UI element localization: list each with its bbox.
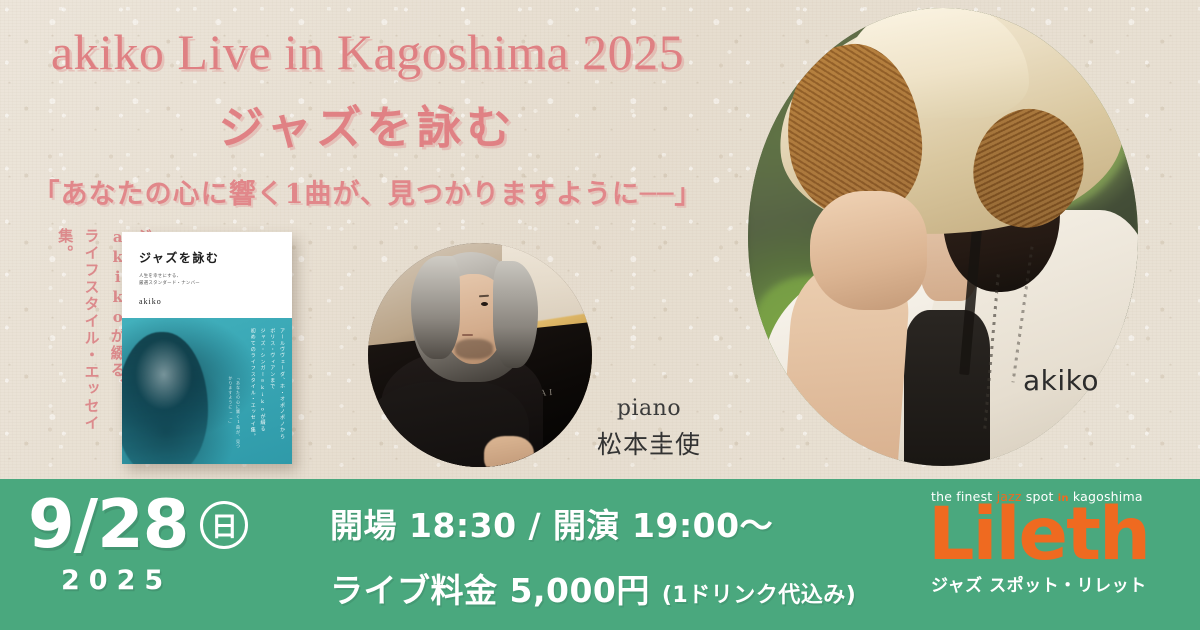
headline-block: akiko Live in Kagoshima 2025 ジャズを詠む 「あなた… bbox=[0, 26, 735, 211]
piano-role-label: piano bbox=[594, 396, 704, 421]
event-year: 2025 bbox=[61, 565, 308, 596]
artist-name-label: akiko bbox=[1023, 364, 1099, 397]
venue-name-japanese: ジャズ スポット・リレット bbox=[931, 571, 1108, 596]
event-day-of-week-badge: 日 bbox=[200, 501, 248, 549]
poster-title-sub: ジャズを詠む bbox=[0, 91, 735, 156]
venue-wordmark: Lileth bbox=[928, 500, 1108, 569]
pianist-illustration: K. KAWAI bbox=[368, 243, 592, 467]
event-price: ライブ料金 5,000円 bbox=[330, 571, 650, 610]
book-subtitle-line2: 厳選スタンダード・ナンバー bbox=[139, 280, 292, 287]
book-cover-photo: アールヴヴェーダ、ホ・オポノポノから ボリス・ヴィアンまで ジャズ・シンガーak… bbox=[122, 318, 292, 464]
poster-title-main: akiko Live in Kagoshima 2025 bbox=[0, 26, 735, 79]
pianist-name: 松本圭使 bbox=[594, 425, 704, 461]
event-month-day: 9/28 bbox=[28, 491, 188, 558]
book-author: akiko bbox=[139, 297, 292, 306]
venue-logo[interactable]: the finest jazz spot in kagoshima Lileth… bbox=[928, 489, 1108, 596]
event-price-note: (1ドリンク代込み) bbox=[662, 583, 856, 608]
footer-banner: 9/28 日 2025 開場 18:30 / 開演 19:00〜 ライブ料金 5… bbox=[0, 479, 1200, 630]
event-times: 開場 18:30 / 開演 19:00〜 bbox=[330, 499, 856, 547]
book-cover-vertical-text: アールヴヴェーダ、ホ・オポノポノから ボリス・ヴィアンまで ジャズ・シンガーak… bbox=[247, 328, 286, 456]
event-price-row: ライブ料金 5,000円 (1ドリンク代込み) bbox=[330, 564, 856, 612]
piano-credit: piano 松本圭使 bbox=[594, 396, 704, 461]
event-info-block: 開場 18:30 / 開演 19:00〜 ライブ料金 5,000円 (1ドリンク… bbox=[330, 499, 856, 612]
book-cover-quote: 「あなたの心に響く1曲が、見つかりますように──」 bbox=[227, 376, 242, 452]
book-cover-top: ジャズを詠む 人生を幸せにする、 厳選スタンダード・ナンバー akiko bbox=[122, 232, 292, 318]
pianist-photo: K. KAWAI bbox=[368, 243, 592, 467]
concert-poster: akiko Live in Kagoshima 2025 ジャズを詠む 「あなた… bbox=[0, 0, 1200, 630]
poster-tagline: 「あなたの心に響く1曲が、見つかりますように──」 bbox=[0, 172, 735, 211]
book-title: ジャズを詠む bbox=[139, 249, 292, 266]
book-subtitle: 人生を幸せにする、 厳選スタンダード・ナンバー bbox=[139, 273, 292, 288]
artist-photo bbox=[748, 8, 1138, 466]
event-date-block: 9/28 日 2025 bbox=[28, 491, 308, 596]
book-cover: ジャズを詠む 人生を幸せにする、 厳選スタンダード・ナンバー akiko アール… bbox=[122, 232, 292, 464]
book-subtitle-line1: 人生を幸せにする、 bbox=[139, 273, 292, 280]
